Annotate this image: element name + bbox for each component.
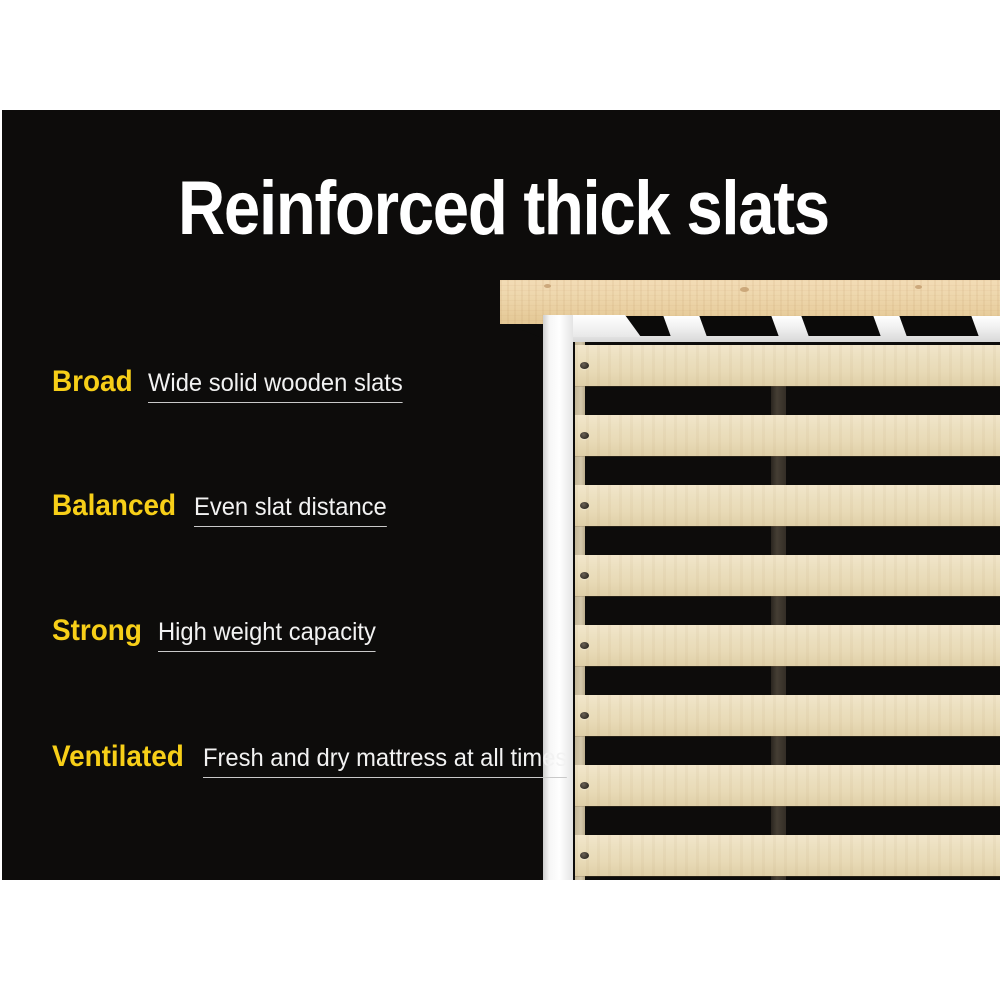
wooden-slat [575, 415, 1000, 456]
screw-icon [580, 362, 589, 369]
centre-support-beam [771, 806, 786, 835]
infographic-canvas: Reinforced thick slats Broad Wide solid … [0, 0, 1000, 1000]
white-cross-support [573, 316, 1000, 342]
page-title: Reinforced thick slats [178, 166, 829, 252]
wooden-slat [575, 765, 1000, 806]
feature-value: Wide solid wooden slats [148, 369, 403, 403]
wooden-slat [575, 555, 1000, 596]
wooden-slat [575, 695, 1000, 736]
top-white-margin [0, 0, 1000, 110]
screw-icon [580, 852, 589, 859]
feature-key: Balanced [52, 489, 176, 523]
screw-icon [580, 782, 589, 789]
screw-icon [580, 642, 589, 649]
feature-value: Fresh and dry mattress at all times [203, 744, 567, 778]
centre-support-beam [771, 526, 786, 555]
centre-support-beam [771, 386, 786, 415]
white-side-frame-rail [543, 315, 573, 880]
screw-icon [580, 572, 589, 579]
centre-support-beam [771, 666, 786, 695]
feature-value: High weight capacity [158, 618, 376, 652]
wooden-slat [575, 345, 1000, 386]
wooden-slat [575, 625, 1000, 666]
feature-row-balanced: Balanced Even slat distance [52, 489, 397, 527]
feature-row-ventilated: Ventilated Fresh and dry mattress at all… [52, 740, 586, 778]
screw-icon [580, 712, 589, 719]
centre-support-beam [771, 736, 786, 765]
wooden-slat [575, 835, 1000, 876]
wood-knot-icon [544, 284, 551, 288]
bottom-white-margin [0, 880, 1000, 1000]
feature-key: Ventilated [52, 740, 184, 774]
feature-row-broad: Broad Wide solid wooden slats [52, 365, 416, 403]
feature-row-strong: Strong High weight capacity [52, 614, 387, 652]
wood-knot-icon [915, 285, 922, 289]
ventilation-gap [899, 316, 978, 336]
centre-support-beam [771, 456, 786, 485]
centre-support-beam [771, 596, 786, 625]
wood-knot-icon [740, 287, 749, 292]
feature-value: Even slat distance [194, 493, 387, 527]
screw-icon [580, 432, 589, 439]
screw-icon [580, 502, 589, 509]
ventilation-gap [699, 316, 778, 336]
feature-key: Broad [52, 365, 133, 399]
feature-key: Strong [52, 614, 142, 648]
ventilation-gap [801, 316, 880, 336]
wooden-slat [575, 485, 1000, 526]
